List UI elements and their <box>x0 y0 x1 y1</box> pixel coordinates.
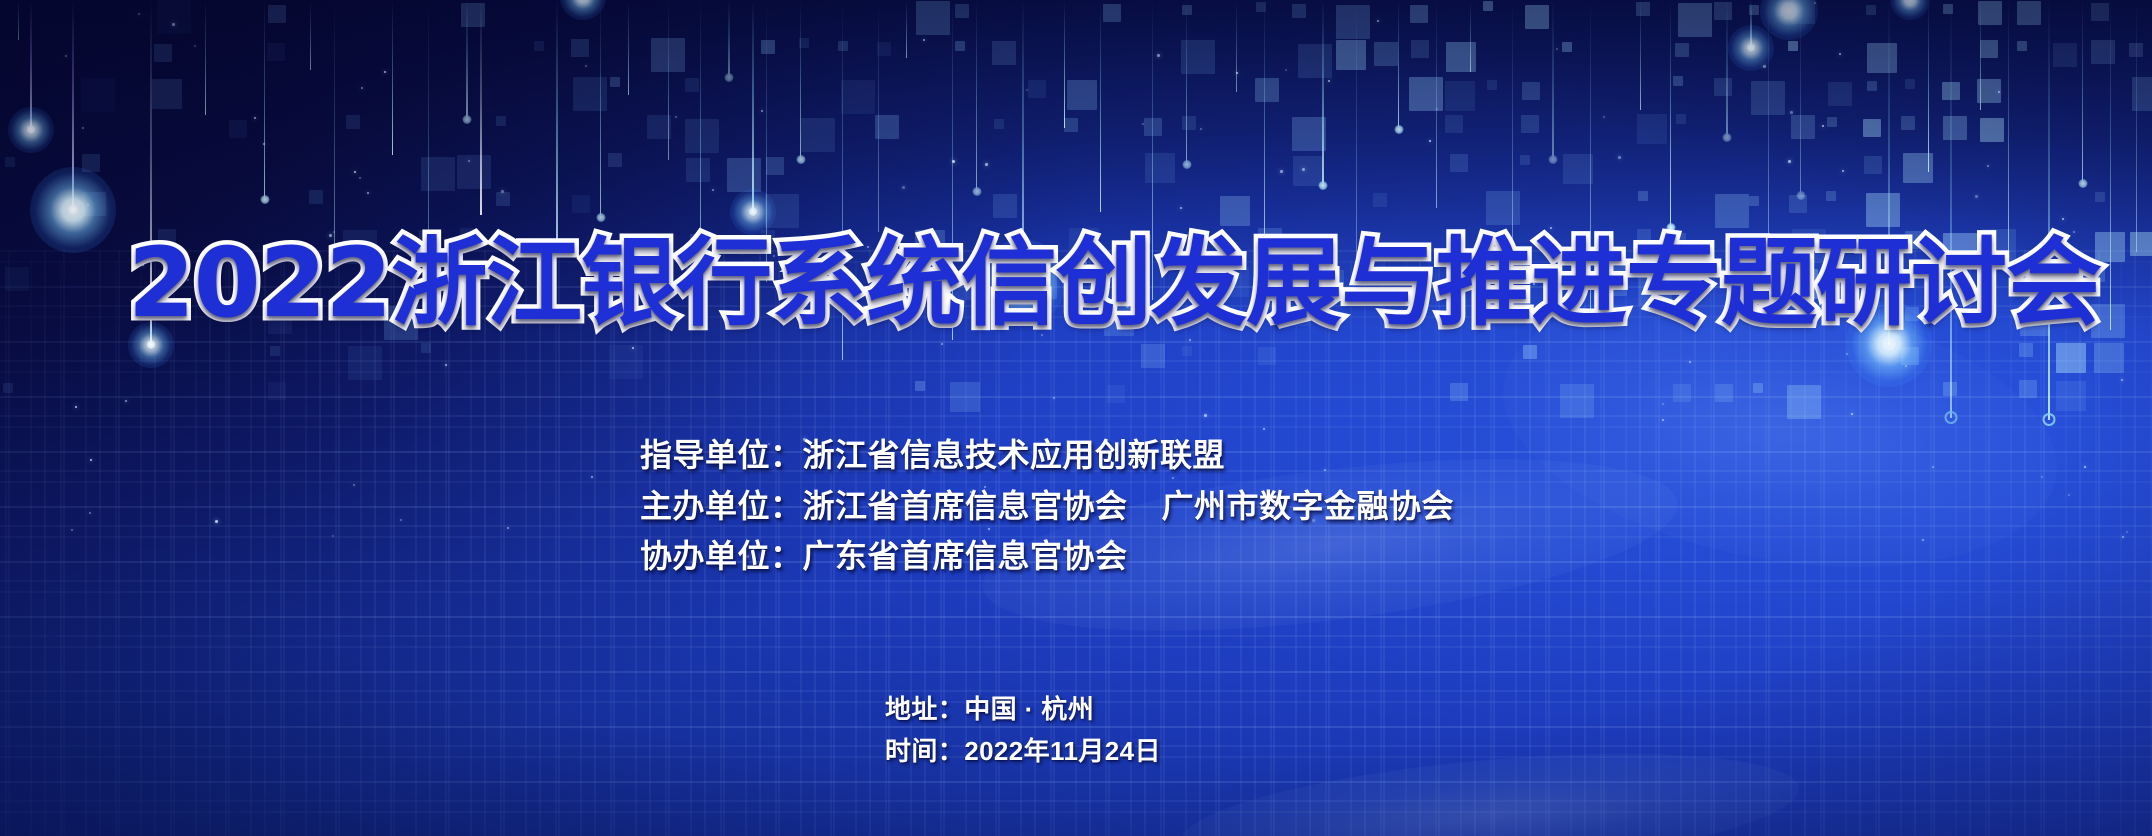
organizer-value: 浙江省信息技术应用创新联盟 <box>803 437 1226 473</box>
page-title: 2022浙江银行系统信创发展与推进专题研讨会 <box>128 205 2101 344</box>
organizer-label: 协办单位： <box>640 538 803 574</box>
organizer-label: 指导单位： <box>640 437 803 473</box>
event-meta-label: 地址： <box>885 694 964 724</box>
event-meta-label: 时间： <box>885 736 964 766</box>
organizer-label: 主办单位： <box>640 488 803 524</box>
organizer-value: 广东省首席信息官协会 <box>803 538 1128 574</box>
organizer-value: 广州市数字金融协会 <box>1162 488 1455 524</box>
event-meta-row: 地址：中国 · 杭州 <box>885 688 1161 730</box>
organizer-row: 协办单位：广东省首席信息官协会 <box>640 531 1454 582</box>
organizer-row: 指导单位：浙江省信息技术应用创新联盟 <box>640 430 1454 481</box>
event-meta-value: 中国 · 杭州 <box>964 694 1094 724</box>
conference-banner: 2022浙江银行系统信创发展与推进专题研讨会 指导单位：浙江省信息技术应用创新联… <box>0 0 2152 836</box>
event-meta-row: 时间：2022年11月24日 <box>885 730 1161 772</box>
organizer-row: 主办单位：浙江省首席信息官协会广州市数字金融协会 <box>640 481 1454 532</box>
event-meta-value: 2022年11月24日 <box>964 736 1161 766</box>
organizer-list: 指导单位：浙江省信息技术应用创新联盟主办单位：浙江省首席信息官协会广州市数字金融… <box>640 430 1454 582</box>
event-meta-list: 地址：中国 · 杭州时间：2022年11月24日 <box>885 688 1161 772</box>
organizer-value: 浙江省首席信息官协会 <box>803 488 1128 524</box>
